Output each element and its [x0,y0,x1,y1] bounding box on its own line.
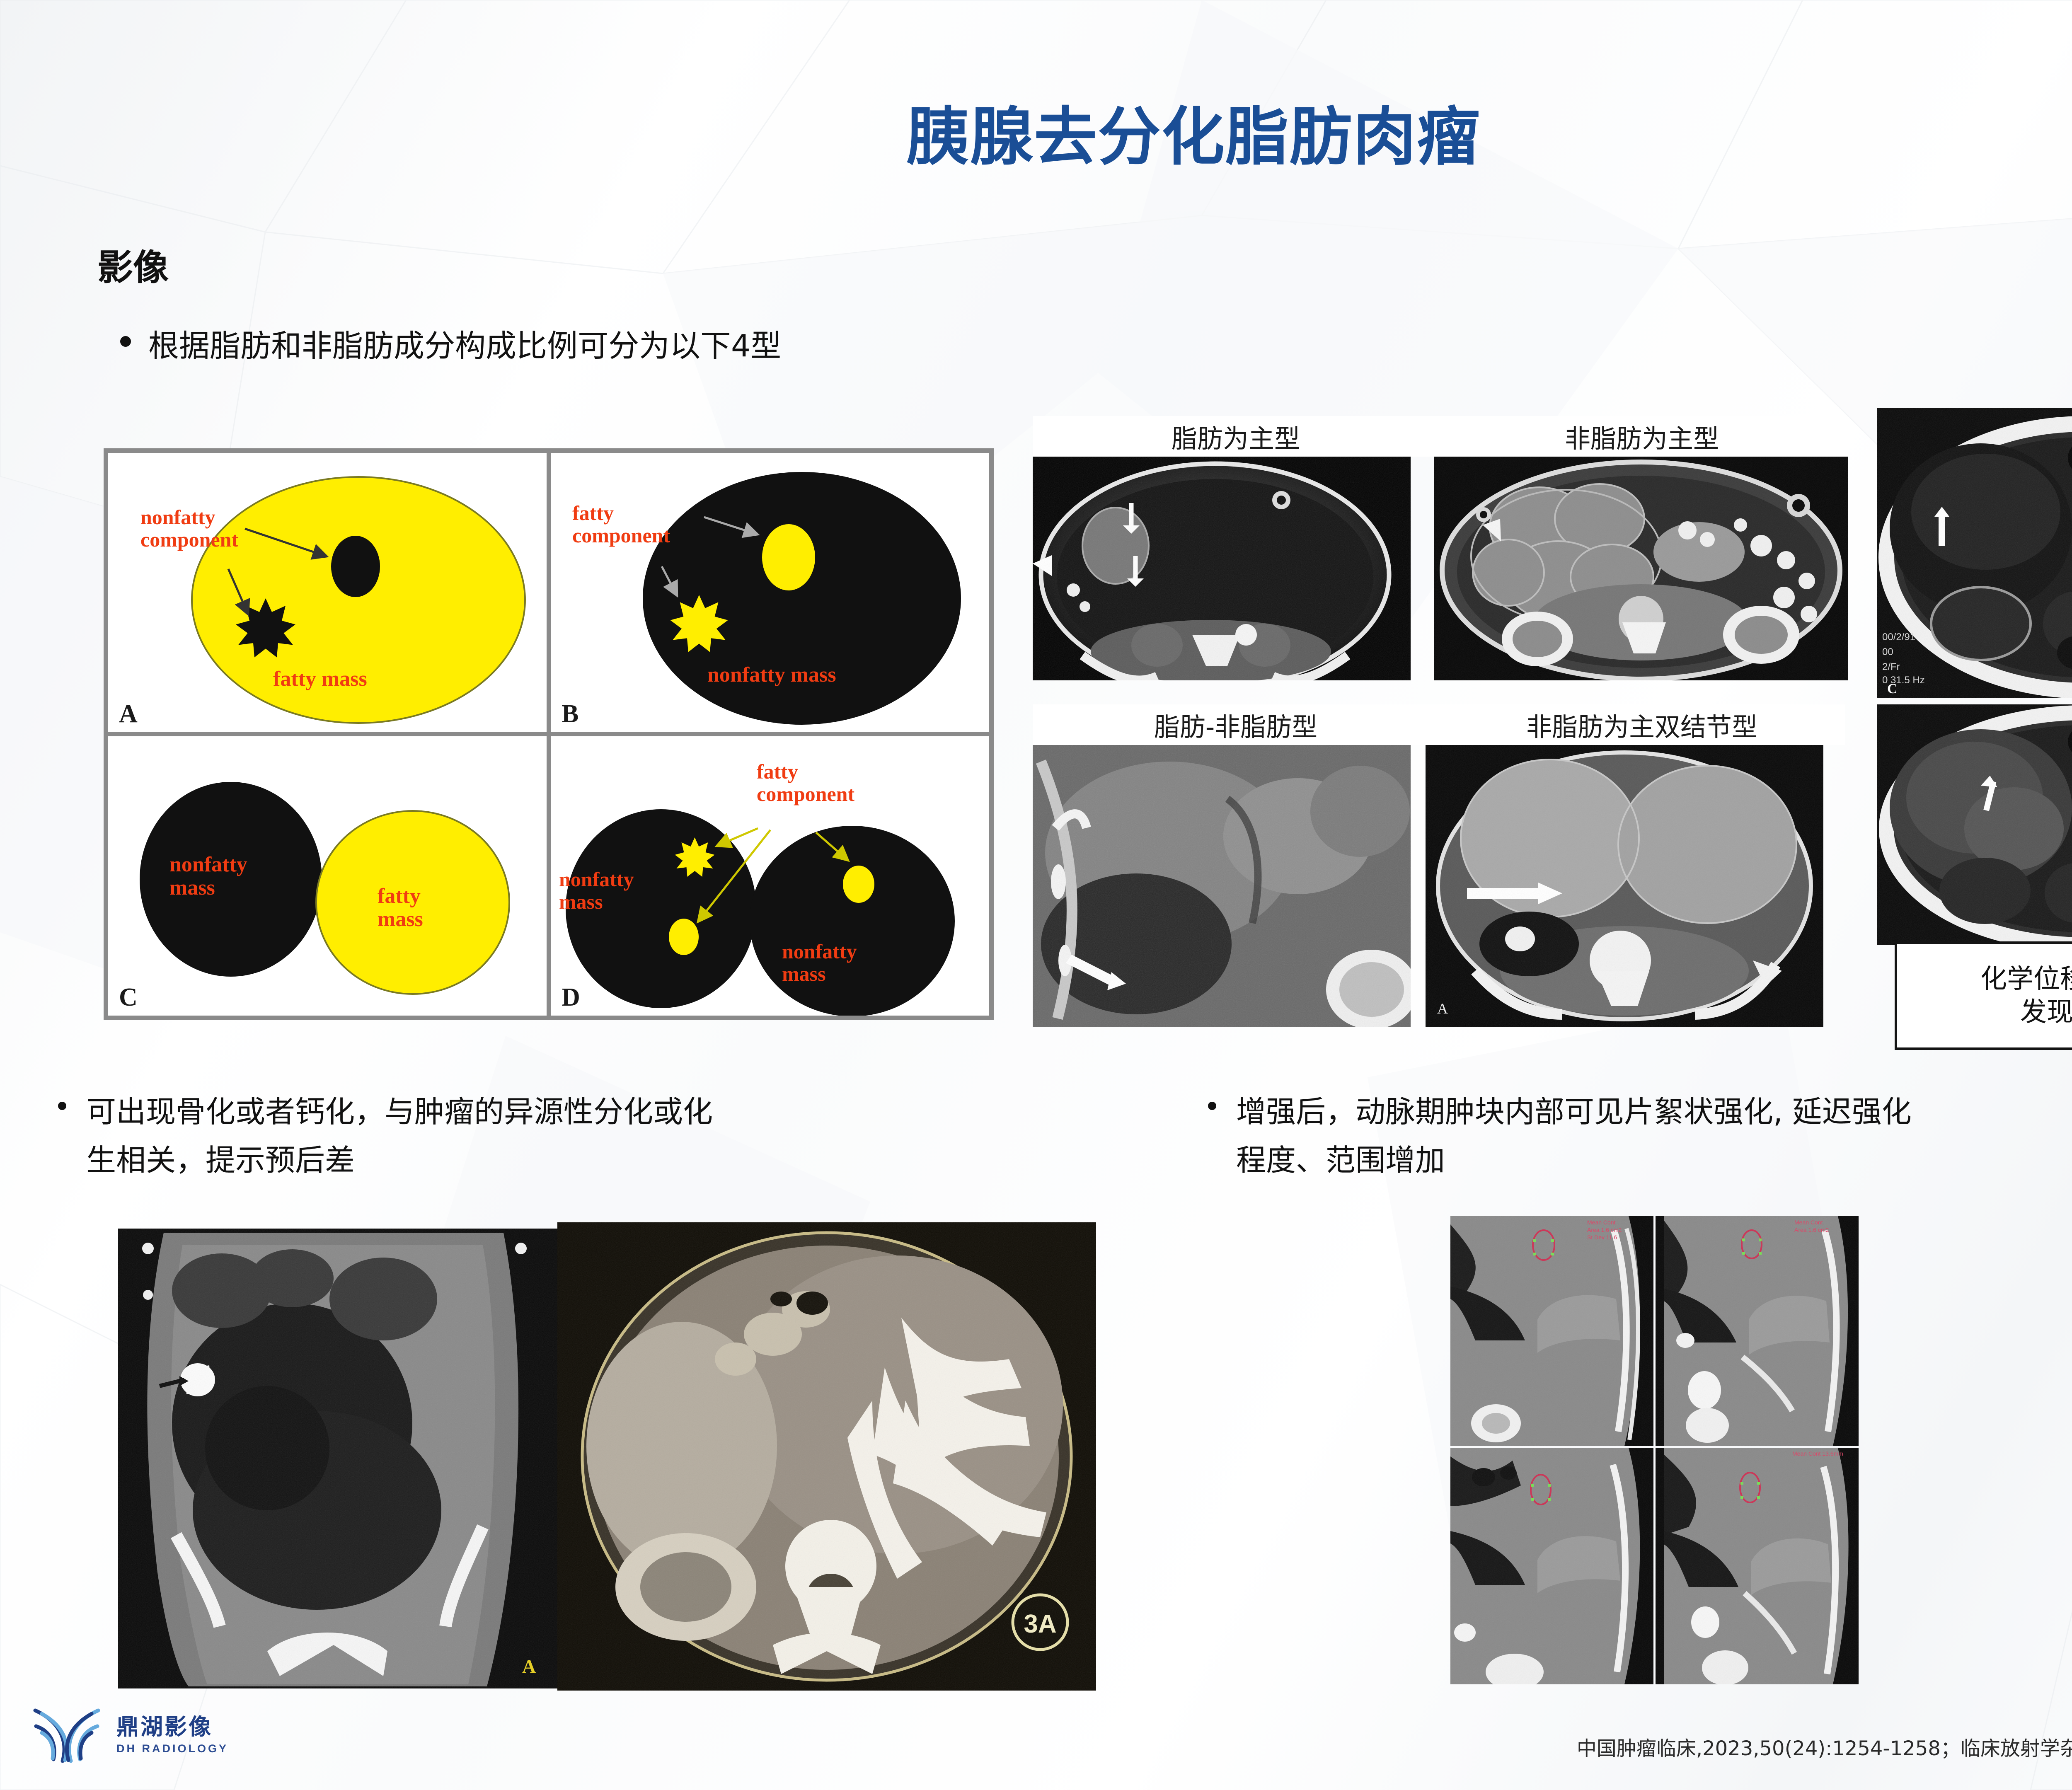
contrast-phase-image-3 [1450,1448,1653,1684]
top-bullet-item: 根据脂肪和非脂肪成分构成比例可分为以下4型 [120,321,781,365]
mri-image-chemical-shift-top: 00/2/91 00 2/Fr 0 31.5 Hz C [1877,408,2072,698]
pointer-arrows-b [551,453,991,734]
ct-caption-fat-nonfat: 脂肪-非脂肪型 [1033,704,1439,745]
fatty-mass-label-c: fatty mass [378,885,423,931]
fatty-mass-label-a: fatty mass [273,668,367,691]
contrast-phase-image-4: Mean Cont 13.6mm [1656,1448,1859,1684]
ct-caption-nonfat-dominant: 非脂肪为主型 [1439,416,1845,457]
bullet-enhancement: 增强后，动脉期肿块内部可见片絮状强化, 延迟强化 程度、范围增加 [1208,1088,2072,1184]
bullet-calcification: 可出现骨化或者钙化，与肿瘤的异源性分化或化 生相关，提示预后差 [58,1088,1152,1184]
citation-footer: 中国肿瘤临床,2023,50(24):1254-1258；临床放射学杂志,201… [1577,1732,2072,1761]
bullet-dot-icon [1208,1102,1216,1110]
schematic-panel-b: fatty component nonfatty mass B [549,451,991,734]
ct-caption-fat-dominant: 脂肪为主型 [1033,416,1439,457]
chemical-shift-caption-line1: 化学位移成像有助于 [1980,963,2072,996]
contrast-phase-image-2: Mean ContArea 1.6 cm2 [1656,1216,1859,1446]
panel-letter-d: D [562,983,580,1012]
nonfatty-mass-label-b: nonfatty mass [707,663,836,687]
chemical-shift-caption-box: 化学位移成像有助于 发现脂肪成分 [1895,941,2072,1050]
schematic-panel-c: nonfatty mass fatty mass C [106,734,549,1018]
nonfatty-component-label-a: nonfatty component [140,506,238,551]
ct-image-nonfat-dominant [1434,457,1848,680]
logo-text-cn: 鼎湖影像 [116,1716,228,1738]
schematic-panel-a: nonfatty component fatty mass A [106,451,549,734]
panel-letter-c: C [119,983,138,1012]
nonfatty-mass-label-c: nonfatty mass [169,853,247,900]
ct-image-axial-ossification: 3A [557,1222,1096,1691]
page-title: 胰腺去分化脂肪肉瘤 [0,106,2072,169]
mri-image-chemical-shift-bottom [1877,704,2072,945]
panel-letter-b: B [562,699,579,729]
ct-image-fat-dominant [1033,457,1411,680]
contrast-phase-image-1: Mean ContArea 1.6 cm2St Dev 11.6 [1450,1216,1653,1446]
logo-text-en: DH RADIOLOGY [116,1743,228,1754]
top-bullet-text: 根据脂肪和非脂肪成分构成比例可分为以下4型 [148,321,781,365]
ct-caption-nonfat-binodular: 非脂肪为主双结节型 [1439,704,1845,745]
bullet-calcification-line1: 可出现骨化或者钙化，与肿瘤的异源性分化或化 [86,1094,713,1129]
bullet-enhancement-line1: 增强后，动脉期肿块内部可见片絮状强化, 延迟强化 [1236,1094,1912,1129]
schematic-panel-d: fatty component nonfatty mass nonfatty m… [549,734,991,1018]
nonfatty-mass-label-d-left: nonfatty mass [559,868,634,913]
brand-logo: 鼎湖影像 DH RADIOLOGY [27,1704,228,1766]
ct-image-coronal-ossification: A [118,1229,557,1688]
ct-image-nonfat-binodular: A [1426,745,1823,1027]
bullet-dot-icon [58,1102,66,1110]
fatty-component-label-b: fatty component [572,502,670,547]
panel-letter-a: A [119,699,138,729]
pointer-arrows-a [108,453,549,734]
nonfatty-mass-label-d-right: nonfatty mass [782,940,857,985]
bullet-enhancement-line2: 程度、范围增加 [1236,1143,1445,1178]
slide-canvas: 胰腺去分化脂肪肉瘤 影像 根据脂肪和非脂肪成分构成比例可分为以下4型 nonfa… [0,0,2072,1790]
logo-mark-icon [27,1704,106,1766]
chemical-shift-caption-line2: 发现脂肪成分 [2020,996,2072,1029]
section-heading: 影像 [97,238,169,290]
bullet-calcification-line2: 生相关，提示预后差 [86,1143,355,1178]
fatty-component-label-d: fatty component [757,760,854,805]
ct-image-fat-nonfat [1033,745,1411,1027]
classification-schematic: nonfatty component fatty mass A fatty co… [104,448,994,1020]
bullet-dot-icon [120,336,131,347]
